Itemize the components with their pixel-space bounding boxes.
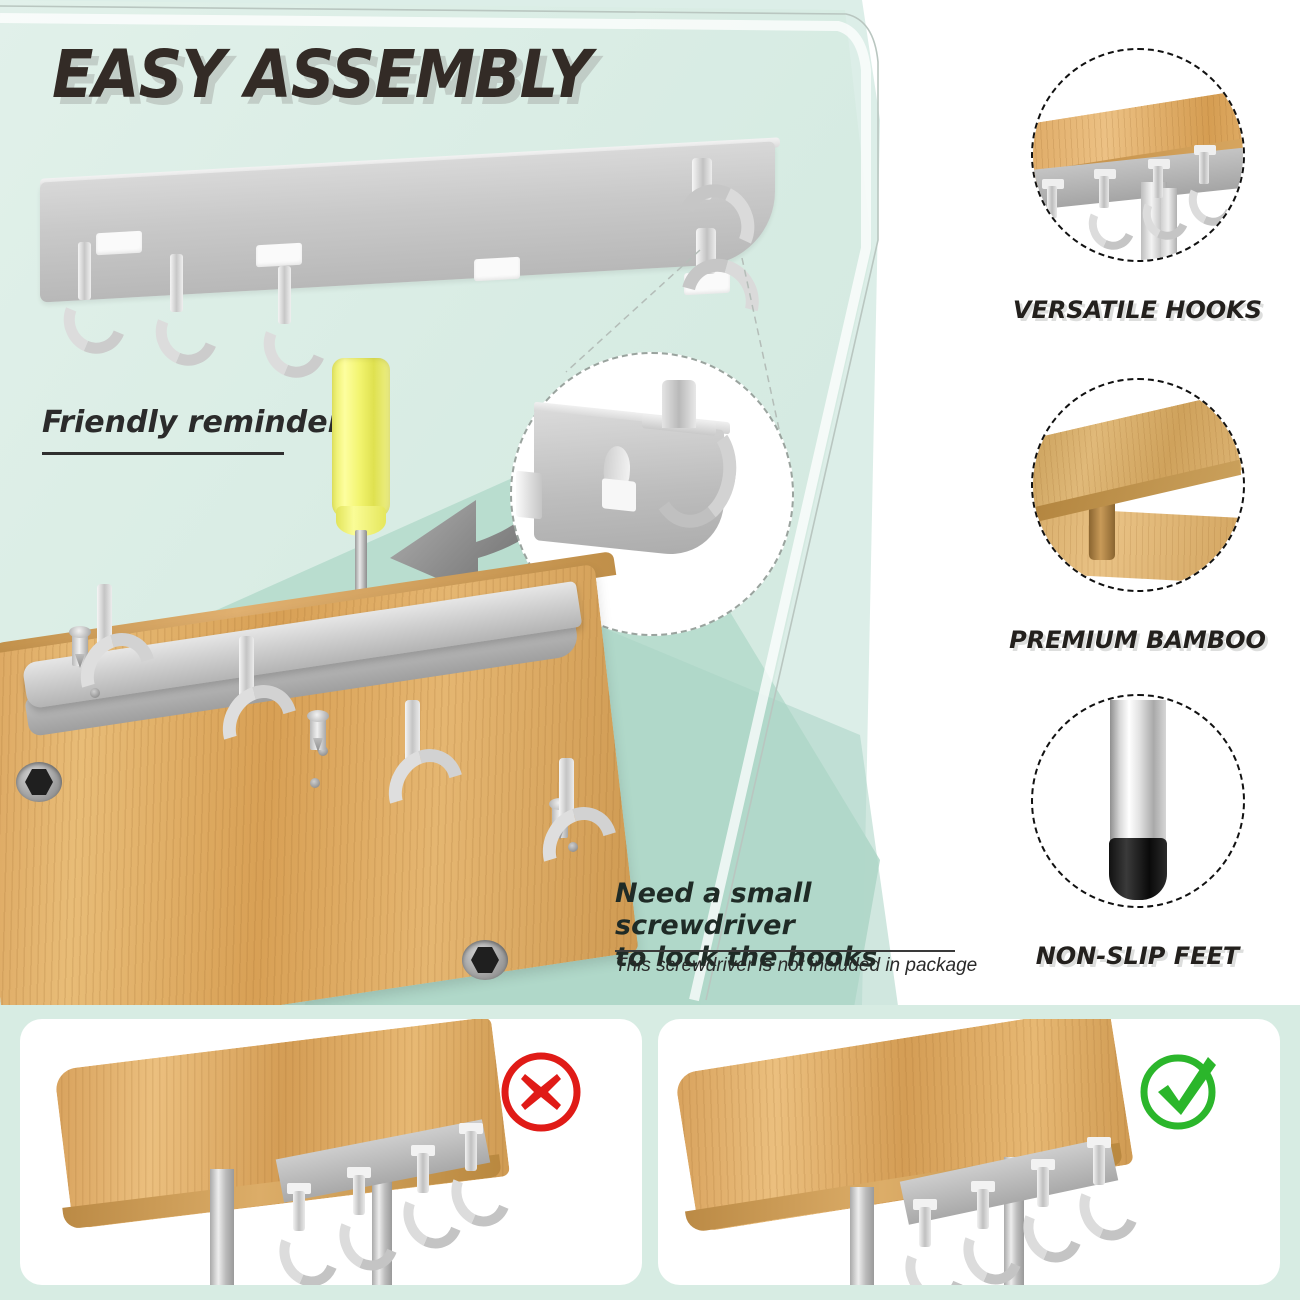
feature-image-circle bbox=[1031, 378, 1245, 592]
hook bbox=[84, 584, 124, 694]
friendly-reminder-rule bbox=[42, 452, 284, 455]
rubber-foot-cap bbox=[1109, 838, 1167, 900]
top-section: EASY ASSEMBLY bbox=[0, 0, 1300, 1005]
chrome-leg bbox=[1110, 700, 1166, 852]
feature-label: NON-SLIP FEET bbox=[975, 942, 1300, 970]
comparison-card-correct bbox=[658, 1019, 1280, 1285]
feature-versatile-hooks: VERSATILE HOOKS bbox=[975, 48, 1300, 348]
hook bbox=[268, 266, 302, 358]
screwdriver-caption-rule bbox=[615, 950, 955, 952]
hex-socket bbox=[462, 940, 508, 980]
hook bbox=[392, 700, 432, 810]
feature-image-circle bbox=[1031, 694, 1245, 908]
comparison-card-incorrect bbox=[20, 1019, 642, 1285]
feature-premium-bamboo: PREMIUM BAMBOO bbox=[975, 378, 1300, 678]
screwdriver-caption-line1: Need a small screwdriver bbox=[615, 878, 975, 942]
hook bbox=[226, 636, 266, 746]
hook bbox=[454, 1131, 488, 1209]
hook bbox=[908, 1207, 942, 1285]
screw bbox=[310, 716, 326, 750]
screwdriver-note: This screwdriver is not included in pack… bbox=[615, 955, 1015, 977]
hook bbox=[966, 1189, 1000, 1267]
hook bbox=[406, 1153, 440, 1231]
bamboo-table-underside bbox=[0, 590, 660, 1005]
rail-slot bbox=[474, 257, 520, 282]
hook bbox=[1039, 186, 1065, 246]
rail-screw-dot bbox=[310, 778, 320, 788]
hook bbox=[1145, 166, 1171, 226]
rail-slot bbox=[96, 231, 142, 256]
feature-label: PREMIUM BAMBOO bbox=[975, 626, 1300, 654]
comparison-section bbox=[0, 1005, 1300, 1300]
bamboo-board-lower bbox=[1031, 506, 1245, 584]
hook bbox=[1082, 1145, 1116, 1223]
hook bbox=[1191, 152, 1217, 212]
hook bbox=[68, 242, 102, 334]
feature-label: VERSATILE HOOKS bbox=[975, 296, 1300, 324]
infographic-stage: EASY ASSEMBLY bbox=[0, 0, 1300, 1300]
detail-slot bbox=[602, 478, 636, 512]
hook bbox=[282, 1191, 316, 1269]
hook bbox=[342, 1175, 376, 1253]
friendly-reminder-heading: Friendly reminder bbox=[42, 405, 342, 440]
hook-rail-assembly bbox=[40, 150, 800, 360]
bamboo-board-upper bbox=[1031, 392, 1244, 518]
hook bbox=[160, 254, 194, 346]
hook bbox=[1091, 176, 1117, 236]
feature-column: VERSATILE HOOKS PREMIUM BAMBOO NON-SLI bbox=[975, 0, 1300, 1005]
table-leg bbox=[850, 1187, 874, 1285]
cross-icon bbox=[498, 1049, 584, 1135]
check-icon bbox=[1138, 1047, 1224, 1133]
rail-slot bbox=[256, 243, 302, 268]
hook bbox=[1026, 1167, 1060, 1245]
page-title: EASY ASSEMBLY bbox=[52, 36, 591, 113]
table-leg bbox=[210, 1169, 234, 1285]
hex-socket bbox=[16, 762, 62, 802]
feature-image-circle bbox=[1031, 48, 1245, 262]
hook bbox=[546, 758, 586, 868]
hook-rotated bbox=[684, 228, 730, 346]
rail-body bbox=[40, 141, 775, 302]
feature-non-slip-feet: NON-SLIP FEET bbox=[975, 694, 1300, 994]
detail-left-nub bbox=[516, 471, 542, 520]
